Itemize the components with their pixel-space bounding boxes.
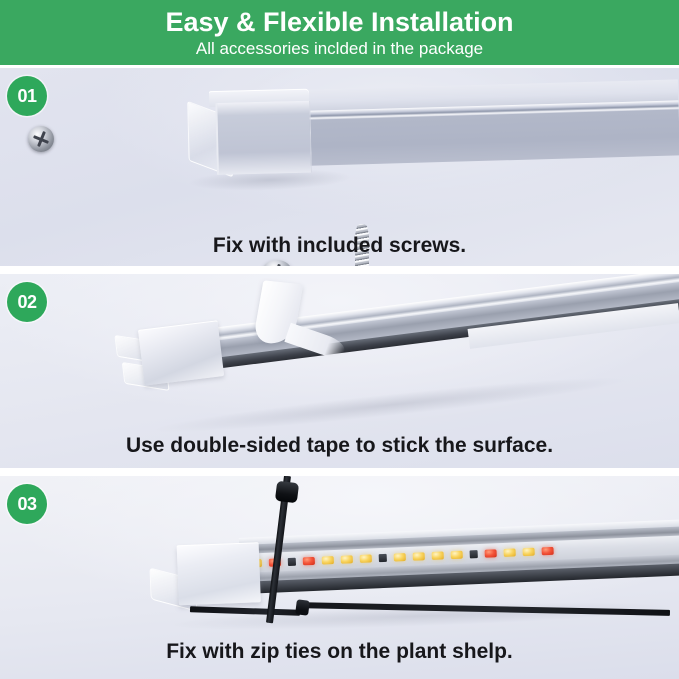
led-chip <box>470 550 478 558</box>
led-amber <box>504 548 516 556</box>
step-badge-01: 01 <box>7 76 47 116</box>
led-amber <box>360 554 372 562</box>
led-amber <box>523 548 535 556</box>
led-red <box>303 557 315 565</box>
clear-end-cap <box>114 320 232 403</box>
mounted-screw <box>28 126 54 152</box>
led-amber <box>394 553 406 561</box>
led-bar-profile <box>299 79 679 164</box>
clear-end-cap <box>201 89 311 178</box>
zip-tie-lock <box>295 599 310 615</box>
led-amber <box>322 556 334 564</box>
end-cap-face <box>215 101 312 175</box>
page-subtitle: All accessories inclded in the package <box>196 38 483 60</box>
loose-screw-head <box>262 260 292 266</box>
step-badge-02: 02 <box>7 282 47 322</box>
zip-tie-head <box>275 481 299 504</box>
led-amber <box>432 551 444 559</box>
page-title: Easy & Flexible Installation <box>165 7 513 37</box>
step-caption-2: Use double-sided tape to stick the surfa… <box>0 434 679 458</box>
led-chip <box>379 554 387 562</box>
step-caption-3: Fix with zip ties on the plant shelp. <box>0 640 679 664</box>
led-red <box>541 547 553 555</box>
led-amber <box>341 555 353 563</box>
installation-infographic: Easy & Flexible Installation All accesso… <box>0 0 679 679</box>
led-red <box>485 549 497 557</box>
led-amber <box>413 552 425 560</box>
end-cap-face <box>177 542 261 605</box>
lit-led-bar <box>239 519 679 594</box>
led-amber <box>451 551 463 559</box>
header-banner: Easy & Flexible Installation All accesso… <box>0 0 679 65</box>
led-chip <box>288 558 296 566</box>
step-caption-1: Fix with included screws. <box>0 234 679 258</box>
bar-front-face <box>300 109 679 166</box>
step-badge-03: 03 <box>7 484 47 524</box>
end-cap-face <box>138 320 224 385</box>
